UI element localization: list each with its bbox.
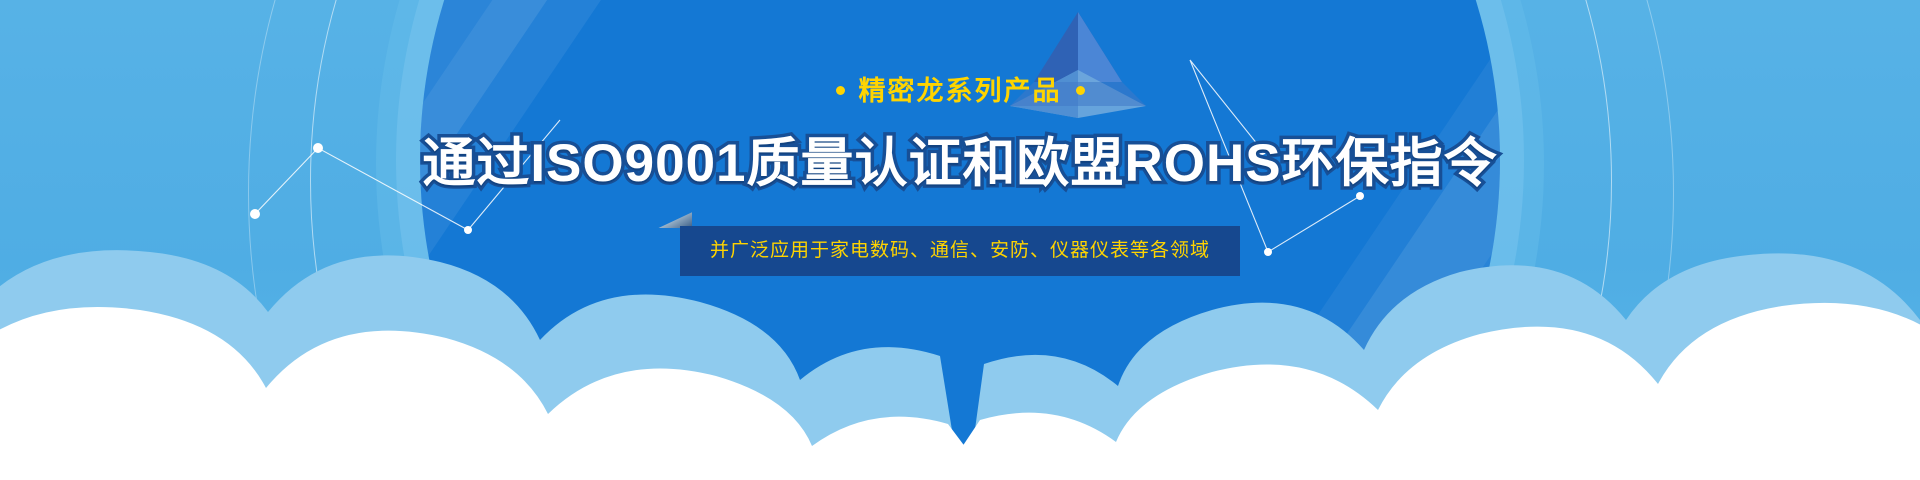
bullet-dot-right [1076,86,1085,95]
eyebrow-line: 精密龙系列产品 [0,78,1920,105]
ribbon-text: 并广泛应用于家电数码、通信、安防、仪器仪表等各领域 [680,226,1240,276]
eyebrow-text: 精密龙系列产品 [859,76,1062,106]
promo-banner: 精密龙系列产品 通过ISO9001质量认证和欧盟ROHS环保指令 并广泛应用于家… [0,0,1920,480]
ribbon-banner: 并广泛应用于家电数码、通信、安防、仪器仪表等各领域 [680,226,1240,276]
page-title: 通过ISO9001质量认证和欧盟ROHS环保指令 [0,135,1920,192]
bullet-dot-left [836,86,845,95]
banner-content: 精密龙系列产品 通过ISO9001质量认证和欧盟ROHS环保指令 并广泛应用于家… [0,0,1920,276]
